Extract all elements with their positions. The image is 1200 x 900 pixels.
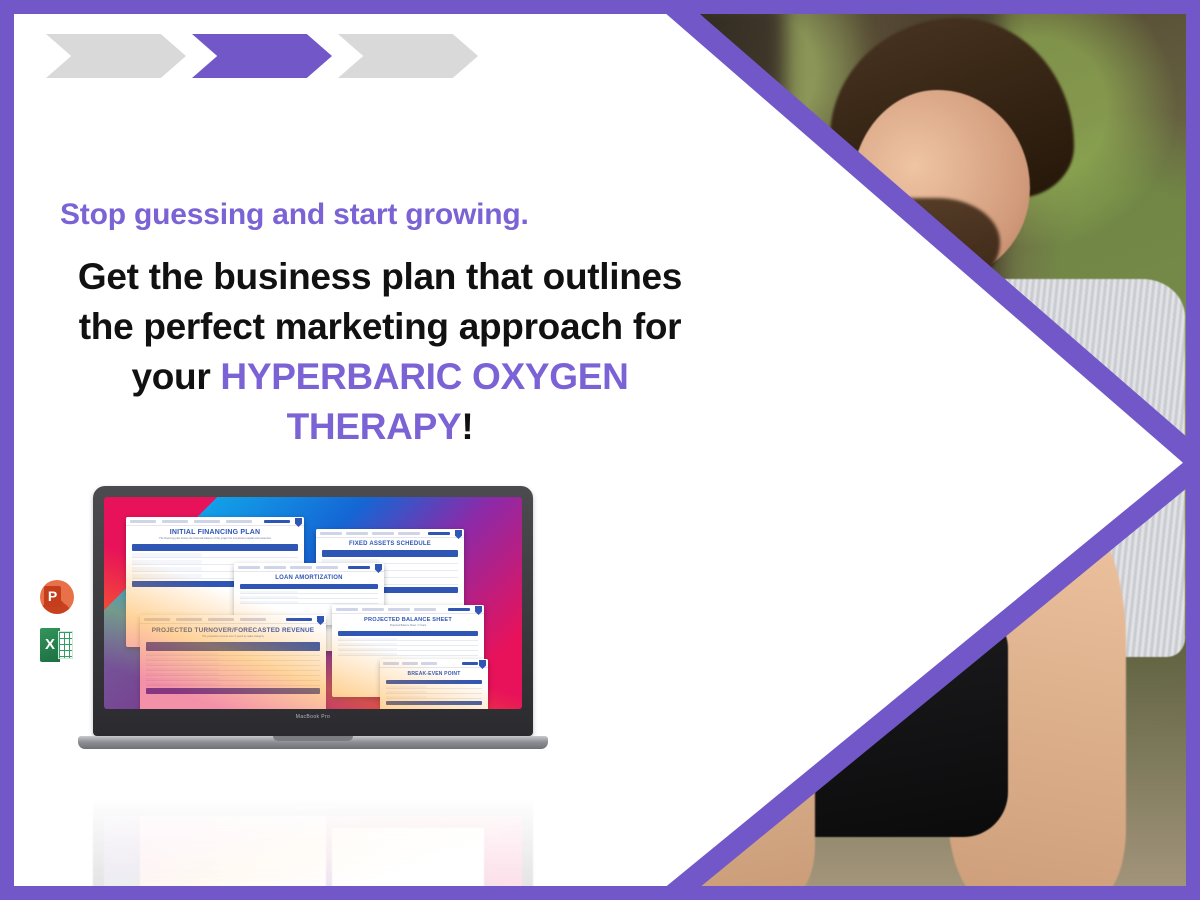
reflection-base — [78, 776, 548, 789]
window-table — [332, 629, 484, 662]
smartwatch — [904, 540, 956, 594]
window-toolbar — [380, 659, 488, 668]
reflection-window — [140, 816, 326, 900]
window-title: INITIAL FINANCING PLAN — [126, 526, 304, 537]
shoulder-towel — [904, 324, 1000, 558]
shield-icon — [475, 606, 482, 615]
headline-exclamation: ! — [461, 406, 473, 447]
excel-icon-letter: X — [40, 628, 60, 662]
reflection-lid: MacBook Pro — [93, 789, 533, 900]
shield-icon — [455, 530, 462, 539]
progress-chevrons — [46, 34, 478, 78]
window-title: PROJECTED TURNOVER/FORECASTED REVENUE — [140, 624, 326, 635]
window-table — [380, 678, 488, 709]
water-bottle — [704, 477, 808, 675]
person-right-beard — [860, 198, 1001, 297]
window-toolbar — [126, 517, 304, 526]
reflection-model-label: MacBook Pro — [104, 805, 522, 811]
tagline: Stop guessing and start growing. — [60, 198, 529, 232]
person-right-head — [852, 90, 1030, 279]
window-title: LOAN AMORTIZATION — [234, 572, 384, 582]
person-right-shorts — [786, 612, 1008, 837]
shield-icon — [317, 616, 324, 625]
shield-icon — [479, 660, 486, 669]
hand-holding-bottle — [734, 567, 845, 684]
window-toolbar — [316, 529, 464, 538]
person-right-shirt — [830, 279, 1185, 657]
window-toolbar — [140, 615, 326, 624]
progress-step-3[interactable] — [338, 34, 478, 78]
window-title: PROJECTED BALANCE SHEET — [332, 614, 484, 624]
reflection-table — [332, 883, 484, 900]
powerpoint-icon[interactable] — [40, 580, 74, 614]
progress-step-2-active[interactable] — [192, 34, 332, 78]
person-left-legs — [667, 630, 815, 900]
smartphone — [781, 646, 880, 749]
window-title: BREAK-EVEN POINT — [380, 668, 488, 678]
window-table — [140, 640, 326, 698]
window-break-even-point[interactable]: BREAK-EVEN POINT — [380, 659, 488, 709]
window-toolbar — [332, 605, 484, 614]
reflection-table — [140, 864, 326, 900]
laptop-model-label: MacBook Pro — [104, 714, 522, 720]
laptop-reflection: MacBook Pro — [78, 776, 548, 900]
laptop-base — [78, 736, 548, 749]
laptop-lid: INITIAL FINANCING PLAN The financing pla… — [93, 486, 533, 736]
laptop-mockup: INITIAL FINANCING PLAN The financing pla… — [78, 486, 548, 749]
file-type-icons: X — [40, 580, 74, 662]
shield-icon — [295, 518, 302, 527]
window-toolbar — [234, 563, 384, 572]
shield-icon — [375, 564, 382, 573]
excel-icon-sheet — [58, 631, 73, 659]
reflection-screen — [104, 816, 522, 900]
excel-icon[interactable]: X — [40, 628, 73, 662]
window-projected-turnover[interactable]: PROJECTED TURNOVER/FORECASTED REVENUE Th… — [140, 615, 326, 709]
marketing-slide: Stop guessing and start growing. Get the… — [0, 0, 1200, 900]
window-title: FIXED ASSETS SCHEDULE — [316, 538, 464, 548]
laptop-screen: INITIAL FINANCING PLAN The financing pla… — [104, 497, 522, 709]
headline: Get the business plan that outlines the … — [60, 252, 700, 452]
person-left-hair — [556, 95, 734, 212]
reflection-window — [332, 828, 484, 900]
headline-accent: HYPERBARIC OXYGEN THERAPY — [220, 356, 628, 447]
progress-step-1[interactable] — [46, 34, 186, 78]
